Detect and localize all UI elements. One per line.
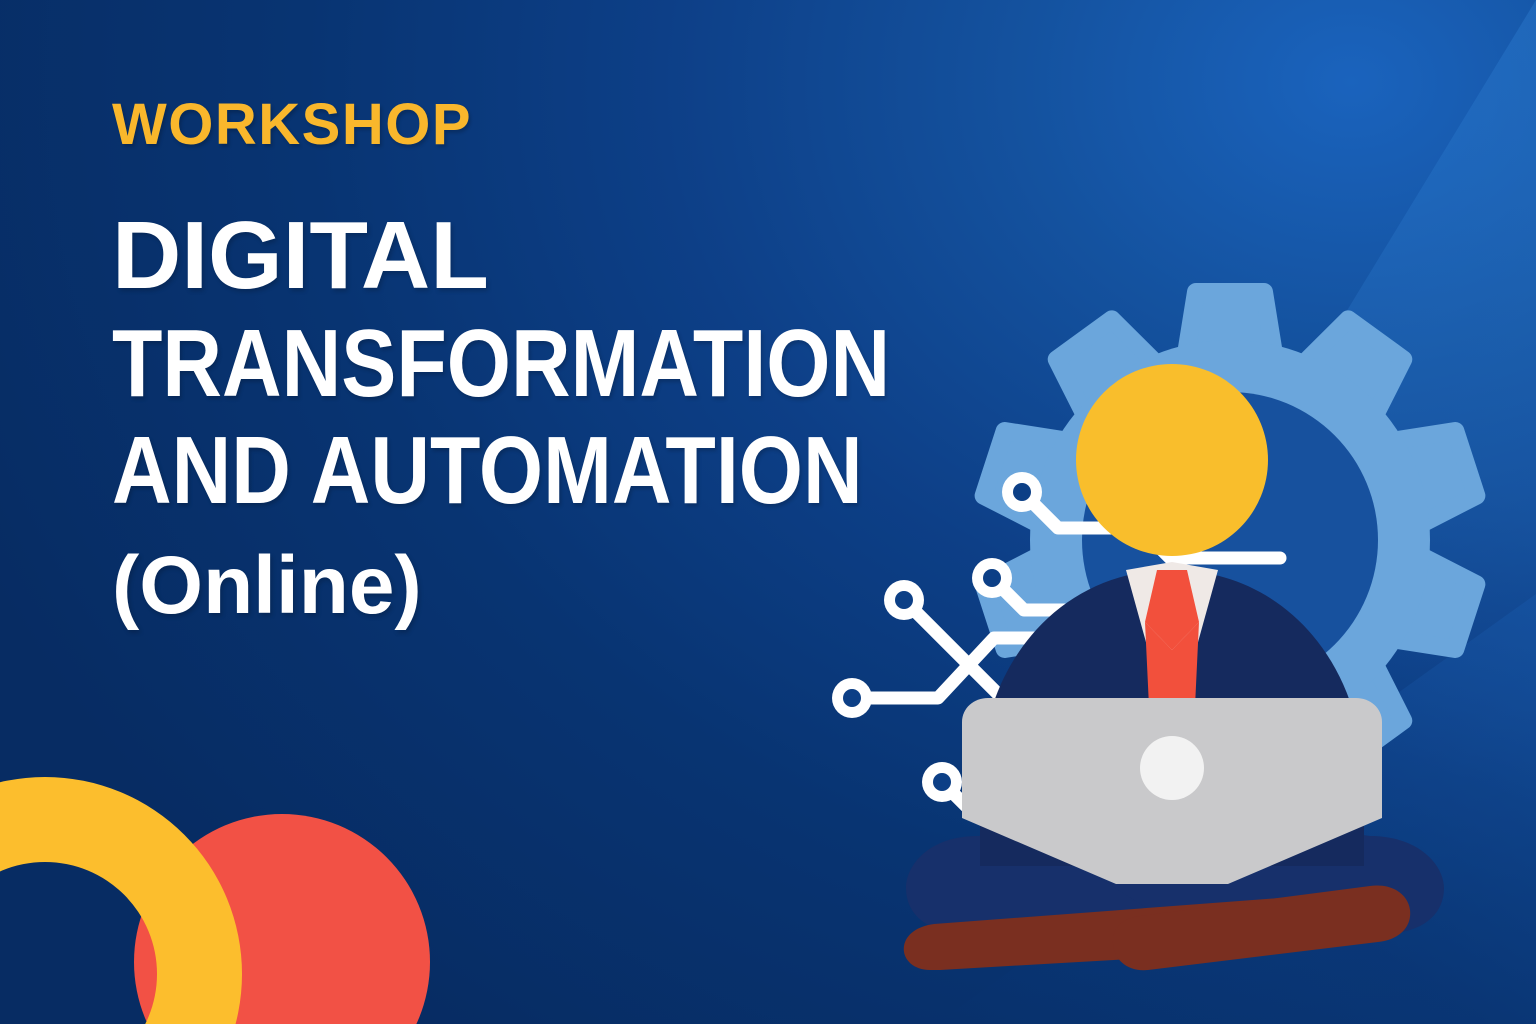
poster-text-block: WORKSHOP DIGITAL TRANSFORMATION AND AUTO… — [112, 96, 1072, 633]
page-title-line-1: DIGITAL — [112, 202, 1072, 310]
page-title-line-2: TRANSFORMATION — [112, 310, 938, 418]
page-title-line-3: AND AUTOMATION — [112, 417, 938, 525]
page-subtitle: (Online) — [112, 539, 1072, 633]
eyebrow-label: WORKSHOP — [112, 96, 1072, 154]
workshop-poster: WORKSHOP DIGITAL TRANSFORMATION AND AUTO… — [0, 0, 1536, 1024]
